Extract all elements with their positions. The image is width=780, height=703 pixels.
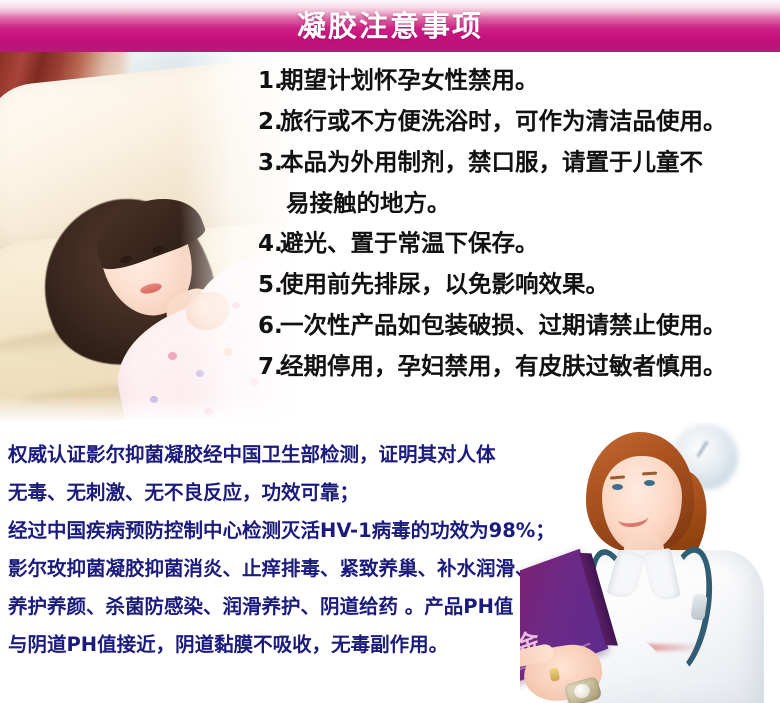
claim-line-5: 养护养颜、杀菌防感染、润滑养护、阴道给药 。产品PH值 (8, 588, 568, 626)
note-item-2: 2. 旅行或不方便洗浴时，可作为清洁品使用。 (258, 101, 772, 142)
note-text: 一次性产品如包装破损、过期请禁止使用。 (280, 305, 772, 345)
note-number: 2. (258, 102, 280, 142)
note-number: 5. (258, 265, 280, 305)
doctor-eye-right (644, 480, 655, 486)
claim-line-3: 经过中国疾病预防控制中心检测灭活HV-1病毒的功效为98%； (8, 512, 568, 550)
claim-line-2: 无毒、无刺激、无不良反应，功效可靠； (8, 474, 568, 512)
notes-list: 1. 期望计划怀孕女性禁用。 2. 旅行或不方便洗浴时，可作为清洁品使用。 3.… (258, 60, 772, 387)
note-text: 易接触的地方。 (286, 183, 772, 223)
note-item-5: 5. 使用前先排尿，以免影响效果。 (258, 264, 772, 305)
note-number: 1. (258, 61, 280, 101)
claim-line-1: 权威认证影尔抑菌凝胶经中国卫生部检测，证明其对人体 (8, 436, 568, 474)
doctor-eye-left (612, 484, 623, 490)
promo-page: 凝胶注意事项 (0, 0, 780, 703)
note-text: 期望计划怀孕女性禁用。 (280, 60, 772, 100)
note-item-1: 1. 期望计划怀孕女性禁用。 (258, 60, 772, 101)
claims-list: 权威认证影尔抑菌凝胶经中国卫生部检测，证明其对人体 无毒、无刺激、无不良反应，功… (8, 436, 568, 664)
note-item-3: 3. 本品为外用制剂，禁口服，请置于儿童不 (258, 142, 772, 183)
photo-bottom-fade (0, 396, 300, 422)
note-text: 旅行或不方便洗浴时，可作为清洁品使用。 (280, 101, 772, 141)
notes-section: 1. 期望计划怀孕女性禁用。 2. 旅行或不方便洗浴时，可作为清洁品使用。 3.… (0, 52, 780, 422)
doctor-photo: 影尔玫 YING ER MEI 金 (520, 422, 780, 703)
woman-photo (0, 52, 300, 422)
note-number: 6. (258, 306, 280, 346)
note-number: 3. (258, 143, 280, 183)
claim-line-4: 影尔玫抑菌凝胶抑菌消炎、止痒排毒、紧致养巢、补水润滑、 (8, 550, 568, 588)
note-text: 经期停用，孕妇禁用，有皮肤过敏者慎用。 (280, 346, 772, 386)
note-text: 本品为外用制剂，禁口服，请置于儿童不 (280, 142, 772, 182)
note-item-4: 4. 避光、置于常温下保存。 (258, 223, 772, 264)
claim-line-6: 与阴道PH值接近，阴道黏膜不吸收，无毒副作用。 (8, 626, 568, 664)
note-text: 避光、置于常温下保存。 (280, 223, 772, 263)
note-number: 7. (258, 347, 280, 387)
header-banner: 凝胶注意事项 (0, 0, 780, 52)
note-item-7: 7. 经期停用，孕妇禁用，有皮肤过敏者慎用。 (258, 346, 772, 387)
page-title: 凝胶注意事项 (0, 0, 780, 52)
pajama-dot (168, 352, 177, 360)
note-item-6: 6. 一次性产品如包装破损、过期请禁止使用。 (258, 305, 772, 346)
note-text: 使用前先排尿，以免影响效果。 (280, 264, 772, 304)
claims-section: 权威认证影尔抑菌凝胶经中国卫生部检测，证明其对人体 无毒、无刺激、无不良反应，功… (0, 422, 780, 703)
note-item-3-continuation: 易接触的地方。 (258, 183, 772, 223)
note-number: 4. (258, 224, 280, 264)
